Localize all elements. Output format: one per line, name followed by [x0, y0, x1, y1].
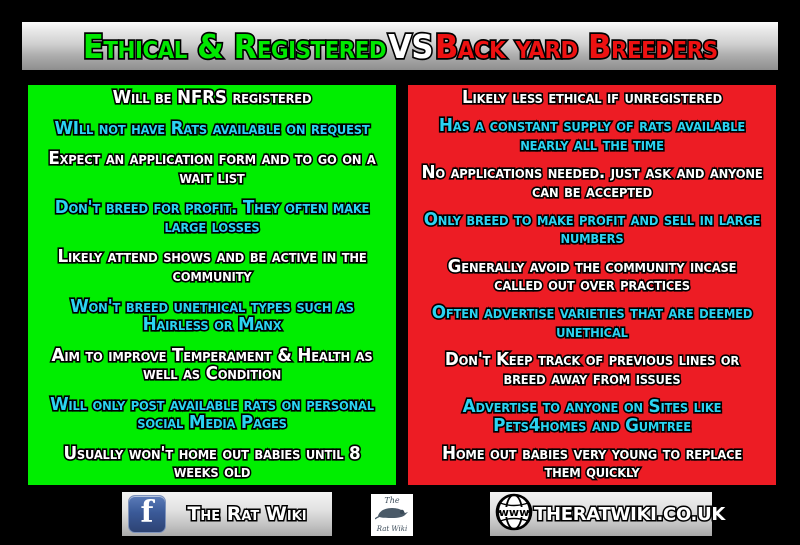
backyard-breeder-panel: Likely less ethical if unregistered Has … — [408, 85, 776, 485]
facebook-icon[interactable]: f — [128, 495, 166, 533]
list-item: Will be NFRS registered — [41, 89, 383, 108]
list-item: Usually won't home out babies until 8 we… — [41, 445, 383, 482]
list-item: Will only post available rats on persona… — [41, 396, 383, 433]
facebook-page-label: The Rat Wiki — [166, 503, 332, 525]
list-item: Expect an application form and to go on … — [41, 150, 383, 187]
title-left-text: Ethical & Registered — [83, 27, 386, 66]
globe-www-icon: www — [494, 492, 534, 537]
ethical-breeder-panel: Will be NFRS registered WIll not have Ra… — [28, 85, 396, 485]
website-badge[interactable]: www THERATWIKI.CO.UK — [490, 492, 712, 536]
list-item: Won't breed unethical types such as Hair… — [41, 298, 383, 335]
logo-top-text: The — [384, 497, 399, 505]
list-item: Don't Keep track of previous lines or br… — [421, 351, 763, 388]
rat-wiki-logo: The Rat Wiki — [371, 494, 413, 536]
poster-title: Ethical & RegisteredVSBack yard Breeders — [83, 30, 718, 63]
list-item: Only breed to make profit and sell in la… — [421, 211, 763, 248]
list-item: Home out babies very young to replace th… — [421, 445, 763, 482]
footer: f The Rat Wiki The Rat Wiki — [0, 492, 800, 540]
list-item: Likely less ethical if unregistered — [421, 89, 763, 108]
website-url-label: THERATWIKI.CO.UK — [534, 504, 727, 525]
list-item: Advertise to anyone on Sites like Pets4h… — [421, 398, 763, 435]
facebook-badge[interactable]: f The Rat Wiki — [122, 492, 332, 536]
rat-silhouette-icon — [375, 505, 409, 525]
list-item: No applications needed. just ask and any… — [421, 164, 763, 201]
list-item: Often advertise varieties that are deeme… — [421, 304, 763, 341]
list-item: WIll not have Rats available on request — [41, 120, 383, 139]
list-item: Don't breed for profit. They often make … — [41, 199, 383, 236]
title-vs-text: VS — [388, 27, 433, 66]
title-bar: Ethical & RegisteredVSBack yard Breeders — [22, 22, 778, 70]
list-item: Likely attend shows and be active in the… — [41, 248, 383, 285]
list-item: Aim to improve Temperament & Health as w… — [41, 347, 383, 384]
title-right-text: Back yard Breeders — [435, 27, 718, 66]
infographic-poster: Ethical & RegisteredVSBack yard Breeders… — [0, 0, 800, 545]
logo-bottom-text: Rat Wiki — [377, 525, 407, 533]
list-item: Generally avoid the community incase cal… — [421, 258, 763, 295]
list-item: Has a constant supply of rats available … — [421, 117, 763, 154]
svg-text:www: www — [499, 506, 530, 519]
